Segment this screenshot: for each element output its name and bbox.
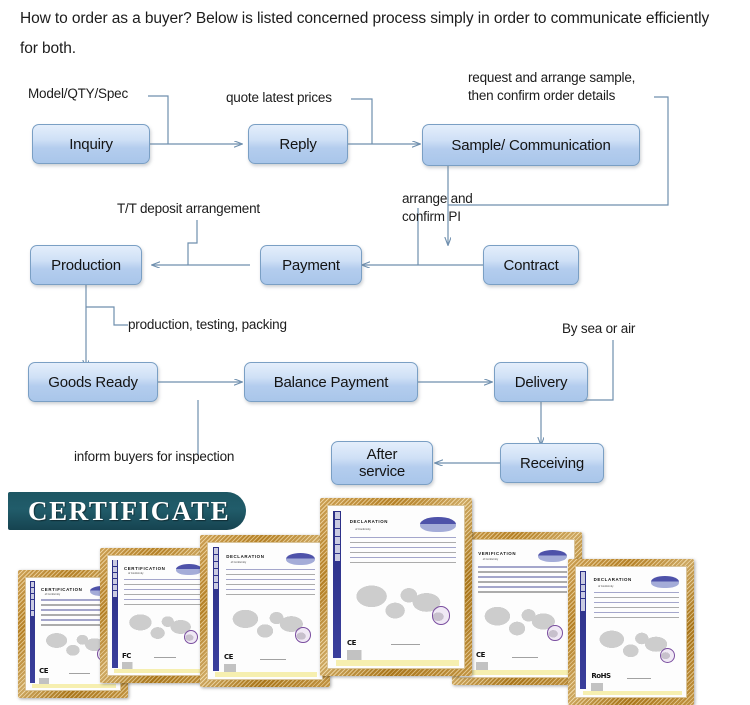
certificate-stamp-icon [660,648,675,663]
certificate-gallery: CERTIFICATION of Conformity CE CERTIFIC [0,485,750,700]
certificate-mat: DECLARATION of Conformity CE [207,542,323,680]
node-balance-payment[interactable]: Balance Payment [244,362,418,402]
certificate-document: CERTIFICATION of Conformity FC [108,556,208,675]
node-inquiry-label: Inquiry [69,136,113,153]
certificate-document: DECLARATION of Conformity CE [328,506,464,668]
node-after-service-label: After service [359,446,405,480]
node-sample-communication-label: Sample/ Communication [451,137,610,154]
edge-label-production-testing-packing: production, testing, packing [128,316,287,334]
certificate-stamp-icon [295,627,311,643]
certificate-body-lines [594,592,680,622]
certificate-footer [591,683,675,691]
edge-label-by-sea-or-air: By sea or air [562,320,635,338]
certificate-footer [224,664,311,672]
certificate-yellow-band [32,684,117,688]
connector-model-qty-spec [148,96,168,144]
node-payment[interactable]: Payment [260,245,362,285]
certificate-photo-4[interactable]: DECLARATION of Conformity CE [320,498,472,676]
certificate-body-lines [350,537,456,567]
certificate-photo-6[interactable]: DECLARATION of Conformity RoHS [568,559,694,705]
node-payment-label: Payment [282,257,340,274]
certificate-logo-icon [538,550,568,562]
node-goods-ready-label: Goods Ready [48,374,138,391]
edge-label-inform-buyers-for-inspection: inform buyers for inspection [74,448,234,466]
certificate-footer [347,650,450,660]
certificate-title: DECLARATION [226,554,264,559]
node-production[interactable]: Production [30,245,142,285]
certificate-mark: CE [224,653,233,661]
edge-label-tt-deposit-arrangement: T/T deposit arrangement [117,200,260,218]
certificate-logo-icon [420,517,455,532]
edge-label-quote-latest-prices: quote latest prices [226,89,332,107]
certificate-mat: DECLARATION of Conformity RoHS [575,566,687,698]
certificate-footer [122,662,198,669]
certificate-subtitle: of Conformity [45,593,60,596]
certificate-signature [627,670,651,679]
node-receiving-label: Receiving [520,455,584,472]
certificate-title: DECLARATION [350,519,388,524]
certificate-logo-icon [176,564,202,575]
certificate-sidebar [580,571,586,689]
certificate-document: VERIFICATION of Conformity CE [460,540,574,677]
node-balance-payment-label: Balance Payment [274,374,389,391]
node-sample-communication[interactable]: Sample/ Communication [422,124,640,166]
certificate-footer [476,662,563,670]
certificate-mark: CE [476,651,485,659]
certificate-body-lines [226,569,315,599]
certificate-stamp-icon [184,630,198,644]
edge-label-request-arrange-sample: request and arrange sample, then confirm… [468,69,635,105]
node-contract[interactable]: Contract [483,245,579,285]
node-contract-label: Contract [503,257,558,274]
connector-production-testing-packing [86,307,128,325]
certificate-subtitle: of Conformity [598,585,613,588]
certificate-mark: FC [122,652,131,660]
edge-label-arrange-confirm-pi: arrange and confirm PI [402,190,473,226]
certificate-yellow-band [215,672,318,677]
certificate-subtitle: of Conformity [355,528,370,531]
certificate-subtitle: of Conformity [483,558,498,561]
certificate-body-lines [478,566,567,596]
certificate-mark: CE [347,639,356,647]
certificate-yellow-band [114,669,204,673]
node-production-label: Production [51,257,121,274]
certificate-stamp-icon [432,606,450,624]
certificate-signature [512,649,537,658]
certificate-sidebar [112,560,118,668]
certificate-photo-3[interactable]: DECLARATION of Conformity CE [200,535,330,687]
certificate-subtitle: of Conformity [231,561,246,564]
node-reply[interactable]: Reply [248,124,348,164]
certificate-logo-icon [651,576,680,588]
certificate-photo-2[interactable]: CERTIFICATION of Conformity FC [100,548,216,683]
page-root: How to order as a buyer? Below is listed… [0,0,750,700]
certificate-yellow-band [467,670,570,675]
certificate-mark: RoHS [591,672,610,680]
certificate-signature [154,650,176,658]
certificate-mark: CE [39,667,48,675]
node-reply-label: Reply [279,136,316,153]
certificate-mat: DECLARATION of Conformity CE [327,505,465,669]
node-after-service[interactable]: After service [331,441,433,485]
order-process-flowchart: Inquiry Reply Sample/ Communication Cont… [0,60,750,485]
certificate-document: DECLARATION of Conformity CE [208,543,322,679]
certificate-mat: VERIFICATION of Conformity CE [459,539,575,678]
certificate-signature [391,635,421,646]
connector-tt-deposit [188,220,197,265]
certificate-logo-icon [286,553,316,565]
certificate-yellow-band [583,691,682,696]
node-delivery-label: Delivery [515,374,568,391]
certificate-subtitle: of Conformity [128,572,143,575]
certificate-sidebar [333,511,340,658]
intro-paragraph: How to order as a buyer? Below is listed… [20,4,720,64]
certificate-signature [260,651,285,660]
certificate-title: VERIFICATION [478,551,516,556]
certificate-sidebar [213,547,219,671]
certificate-body-lines [124,579,202,609]
edge-label-model-qty-spec: Model/QTY/Spec [28,85,128,103]
certificate-title: CERTIFICATION [124,566,165,571]
node-goods-ready[interactable]: Goods Ready [28,362,158,402]
certificate-title: CERTIFICATION [41,587,82,592]
certificate-title: DECLARATION [594,577,632,582]
certificate-mat: CERTIFICATION of Conformity FC [107,555,209,676]
node-receiving[interactable]: Receiving [500,443,604,483]
certificate-stamp-icon [547,625,563,641]
certificate-sidebar [30,581,35,683]
node-inquiry[interactable]: Inquiry [32,124,150,164]
connector-quote-prices [351,99,372,144]
certificate-document: DECLARATION of Conformity RoHS [576,567,686,697]
certificate-signature [69,667,90,675]
certificate-yellow-band [336,660,458,666]
node-delivery[interactable]: Delivery [494,362,588,402]
